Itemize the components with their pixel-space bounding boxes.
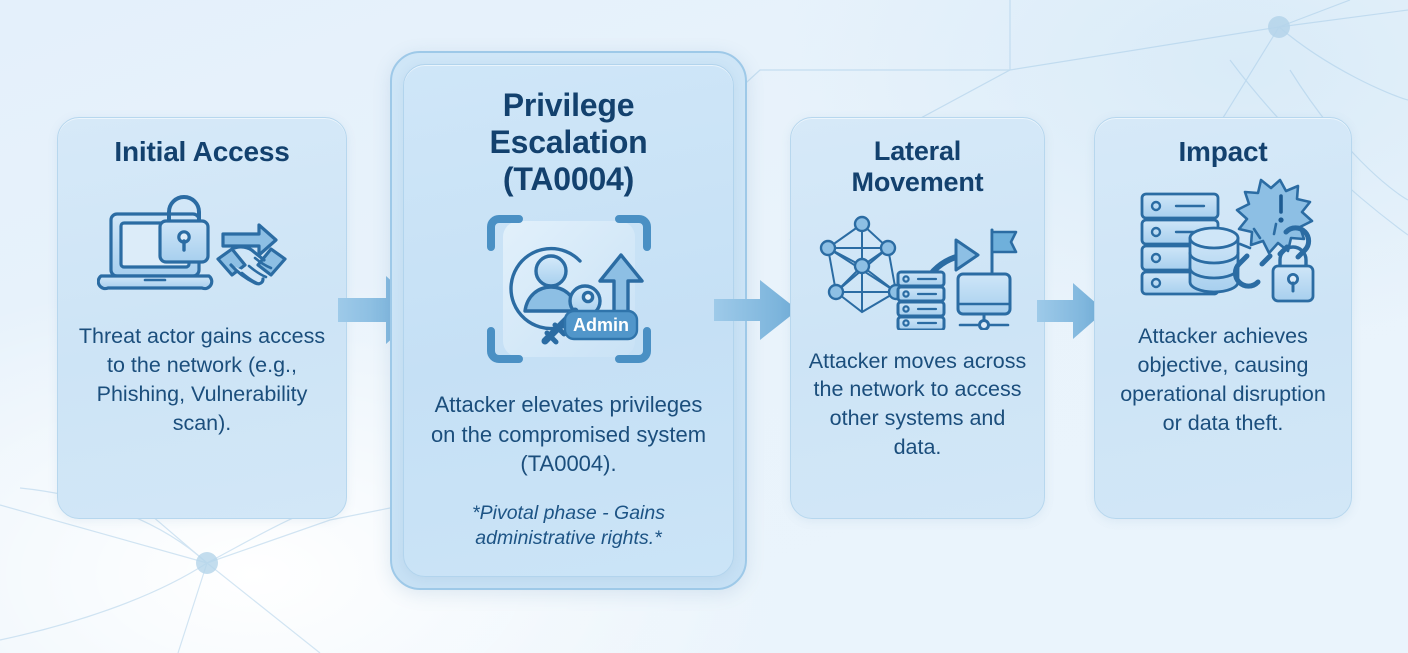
stage-description: Threat actor gains access to the network… bbox=[74, 322, 330, 437]
stage-title: Privilege Escalation (TA0004) bbox=[422, 87, 715, 198]
network-node bbox=[1268, 16, 1290, 38]
stage-title-line1: Lateral bbox=[852, 136, 984, 167]
stage-title: Lateral Movement bbox=[852, 136, 984, 199]
stage-title-line2: (TA0004) bbox=[422, 161, 715, 198]
stage-card-initial-access[interactable]: Initial Access bbox=[57, 117, 347, 519]
user-key-arrow-up-icon: Admin bbox=[479, 206, 659, 376]
admin-badge-label: Admin bbox=[573, 315, 629, 335]
network-node bbox=[196, 552, 218, 574]
stage-title-line1: Privilege Escalation bbox=[422, 87, 715, 161]
stage-description: Attacker achieves objective, causing ope… bbox=[1111, 322, 1335, 437]
stage-card-impact[interactable]: Impact bbox=[1094, 117, 1352, 519]
stage-title: Initial Access bbox=[114, 136, 289, 168]
stage-card-lateral-movement[interactable]: Lateral Movement bbox=[790, 117, 1045, 519]
arrow-right-icon-2 bbox=[714, 277, 798, 343]
stage-card-privilege-escalation-highlight-ring: Privilege Escalation (TA0004) bbox=[390, 51, 747, 590]
stage-card-privilege-escalation[interactable]: Privilege Escalation (TA0004) bbox=[403, 64, 734, 577]
network-server-monitor-flag-icon bbox=[818, 205, 1018, 333]
stage-description: Attacker elevates privileges on the comp… bbox=[422, 390, 715, 478]
stage-title: Impact bbox=[1178, 136, 1267, 168]
diagram-canvas: Initial Access bbox=[0, 0, 1408, 653]
stage-title-line2: Movement bbox=[852, 167, 984, 198]
laptop-padlock-handshake-icon bbox=[97, 178, 307, 308]
stage-note: *Pivotal phase - Gains administrative ri… bbox=[422, 501, 715, 552]
stage-description: Attacker moves across the network to acc… bbox=[807, 347, 1028, 462]
server-database-alert-brokenchain-icon bbox=[1128, 176, 1318, 308]
admin-badge: Admin bbox=[565, 311, 637, 339]
